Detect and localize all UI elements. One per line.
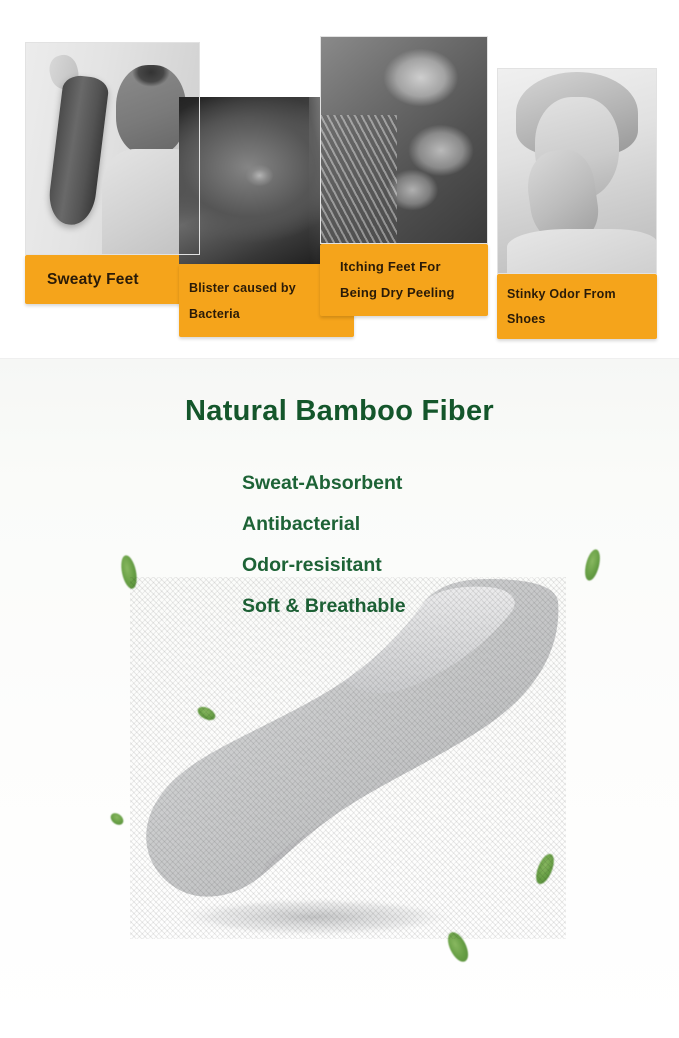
man-head-shape	[116, 65, 186, 154]
caption-sweaty-feet: Sweaty Feet	[25, 255, 200, 304]
problem-card-itching-feet: Itching Feet For Being Dry Peeling	[320, 36, 488, 316]
feature-item: Sweat-Absorbent	[242, 463, 406, 504]
problem-card-stinky-odor: Stinky Odor From Shoes	[497, 68, 657, 339]
problem-card-sweaty-feet: Sweaty Feet	[25, 42, 200, 304]
bamboo-leaf-icon	[582, 548, 602, 582]
bamboo-fiber-panel: Natural Bamboo Fiber Sweat-Absorbent Ant…	[0, 358, 679, 1038]
caption-itching-feet: Itching Feet For Being Dry Peeling	[320, 244, 488, 316]
woman-shoulder-shape	[507, 229, 657, 274]
itching-feet-photo	[320, 36, 488, 244]
feature-item: Antibacterial	[242, 504, 406, 545]
held-sock-shape	[46, 74, 109, 228]
bamboo-title: Natural Bamboo Fiber	[0, 395, 679, 428]
sock-silhouette	[130, 577, 566, 939]
peeling-skin-texture	[320, 115, 397, 244]
stinky-odor-photo	[497, 68, 657, 274]
caption-line: Shoes	[507, 307, 657, 332]
product-infographic: Sweaty Feet Blister caused by Bacteria I…	[0, 0, 679, 1038]
caption-line: Sweaty Feet	[47, 271, 200, 289]
product-sock-image	[118, 549, 578, 979]
caption-line: Stinky Odor From	[507, 282, 657, 307]
caption-stinky-odor: Stinky Odor From Shoes	[497, 274, 657, 339]
problems-panel: Sweaty Feet Blister caused by Bacteria I…	[0, 0, 679, 358]
caption-line: Itching Feet For	[340, 254, 488, 280]
sweaty-feet-photo	[25, 42, 200, 255]
caption-line: Being Dry Peeling	[340, 280, 488, 306]
